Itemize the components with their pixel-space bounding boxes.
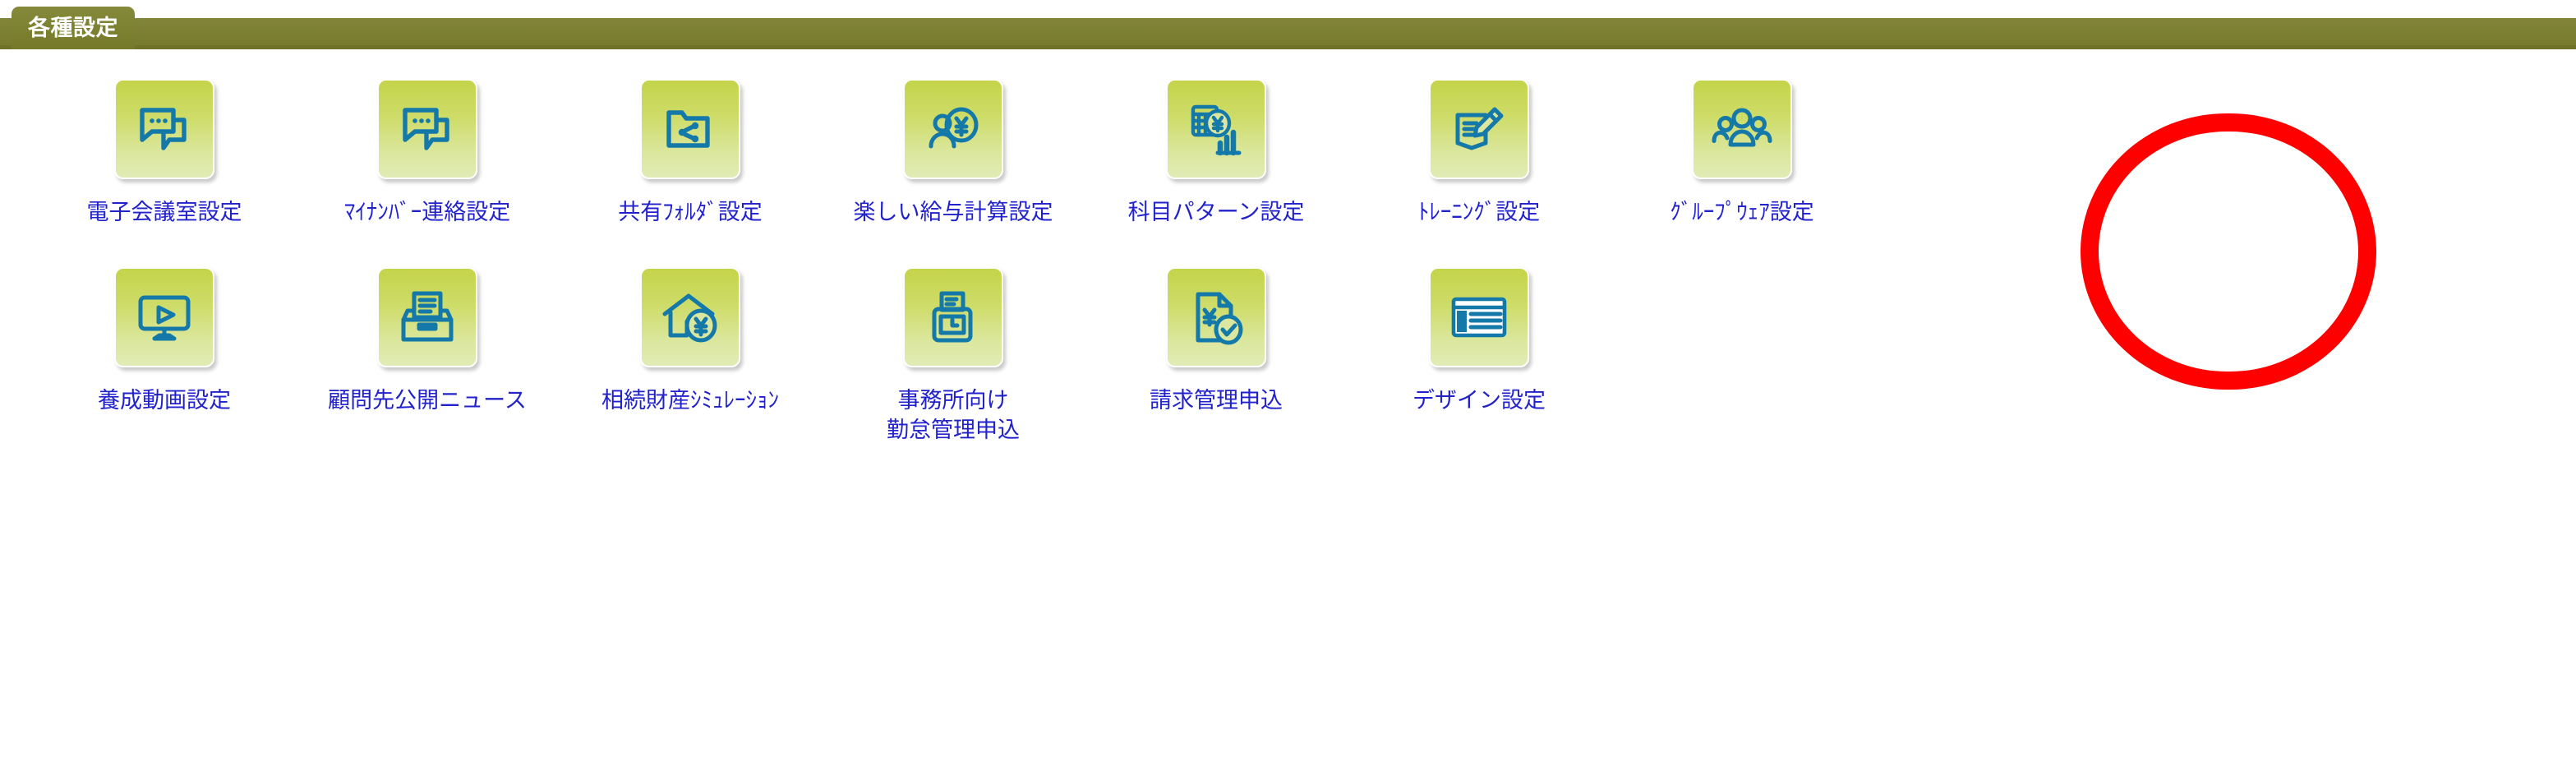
- tile-kintai-kanri-moushikomi[interactable]: 事務所向け 勤怠管理申込: [822, 259, 1085, 445]
- tile-my-number-renraku[interactable]: ﾏｲﾅﾝﾊﾞｰ連絡設定: [296, 71, 559, 247]
- shared-folder-icon: [640, 79, 740, 179]
- tile-souzoku-simulation[interactable]: 相続財産ｼﾐｭﾚｰｼｮﾝ: [559, 259, 822, 436]
- tile-design-settings[interactable]: デザイン設定: [1348, 259, 1611, 436]
- tile-label: 科目パターン設定: [1128, 197, 1305, 227]
- icon-row-2: 養成動画設定 顧問先公開ニュース: [33, 259, 2383, 445]
- tile-training[interactable]: ﾄﾚｰﾆﾝｸﾞ設定: [1348, 71, 1611, 247]
- news-tray-icon: [377, 267, 477, 367]
- tile-label: ｸﾞﾙｰﾌﾟｳｪｱ設定: [1670, 197, 1814, 227]
- tile-label: 相続財産ｼﾐｭﾚｰｼｮﾝ: [601, 385, 779, 415]
- tile-label: 共有ﾌｫﾙﾀﾞ設定: [618, 197, 763, 227]
- tile-label: デザイン設定: [1412, 385, 1546, 415]
- document-pencil-icon: [1429, 79, 1529, 179]
- house-yen-icon: [640, 267, 740, 367]
- tile-label: 楽しい給与計算設定: [854, 197, 1053, 227]
- icon-row-1: 電子会議室設定 ﾏｲﾅﾝﾊﾞｰ連絡設定: [33, 71, 2383, 247]
- tile-label: 請求管理申込: [1150, 385, 1283, 415]
- invoice-check-icon: [1166, 267, 1266, 367]
- person-yen-icon: [903, 79, 1003, 179]
- time-clock-doc-icon: [903, 267, 1003, 367]
- tile-seikyu-kanri-moushikomi[interactable]: 請求管理申込: [1085, 259, 1348, 436]
- video-play-icon: [114, 267, 214, 367]
- tile-groupware[interactable]: ｸﾞﾙｰﾌﾟｳｪｱ設定: [1611, 71, 1873, 247]
- tile-denshi-kaigishitsu[interactable]: 電子会議室設定: [33, 71, 296, 247]
- tile-label: 養成動画設定: [98, 385, 231, 415]
- tile-label: 事務所向け 勤怠管理申込: [887, 385, 1020, 445]
- tile-label: ﾏｲﾅﾝﾊﾞｰ連絡設定: [344, 197, 511, 227]
- tile-kyuyo-keisan[interactable]: 楽しい給与計算設定: [822, 71, 1085, 247]
- calculator-chart-icon: [1166, 79, 1266, 179]
- chat-bubbles-icon: [377, 79, 477, 179]
- tile-komonsaki-news[interactable]: 顧問先公開ニュース: [296, 259, 559, 436]
- tile-label: 顧問先公開ニュース: [328, 385, 527, 415]
- tab-bar: 各種設定: [0, 0, 2576, 49]
- design-window-icon: [1429, 267, 1529, 367]
- people-group-icon: [1692, 79, 1792, 179]
- tile-yousei-douga[interactable]: 養成動画設定: [33, 259, 296, 436]
- tile-label: 電子会議室設定: [87, 197, 242, 227]
- tile-kyoyu-folder[interactable]: 共有ﾌｫﾙﾀﾞ設定: [559, 71, 822, 247]
- tile-kamoku-pattern[interactable]: 科目パターン設定: [1085, 71, 1348, 247]
- settings-icon-grid: 電子会議室設定 ﾏｲﾅﾝﾊﾞｰ連絡設定: [0, 49, 2576, 445]
- chat-bubbles-icon: [114, 79, 214, 179]
- tab-settings-label: 各種設定: [28, 17, 118, 39]
- tab-settings[interactable]: 各種設定: [12, 7, 135, 49]
- tile-label: ﾄﾚｰﾆﾝｸﾞ設定: [1418, 197, 1541, 227]
